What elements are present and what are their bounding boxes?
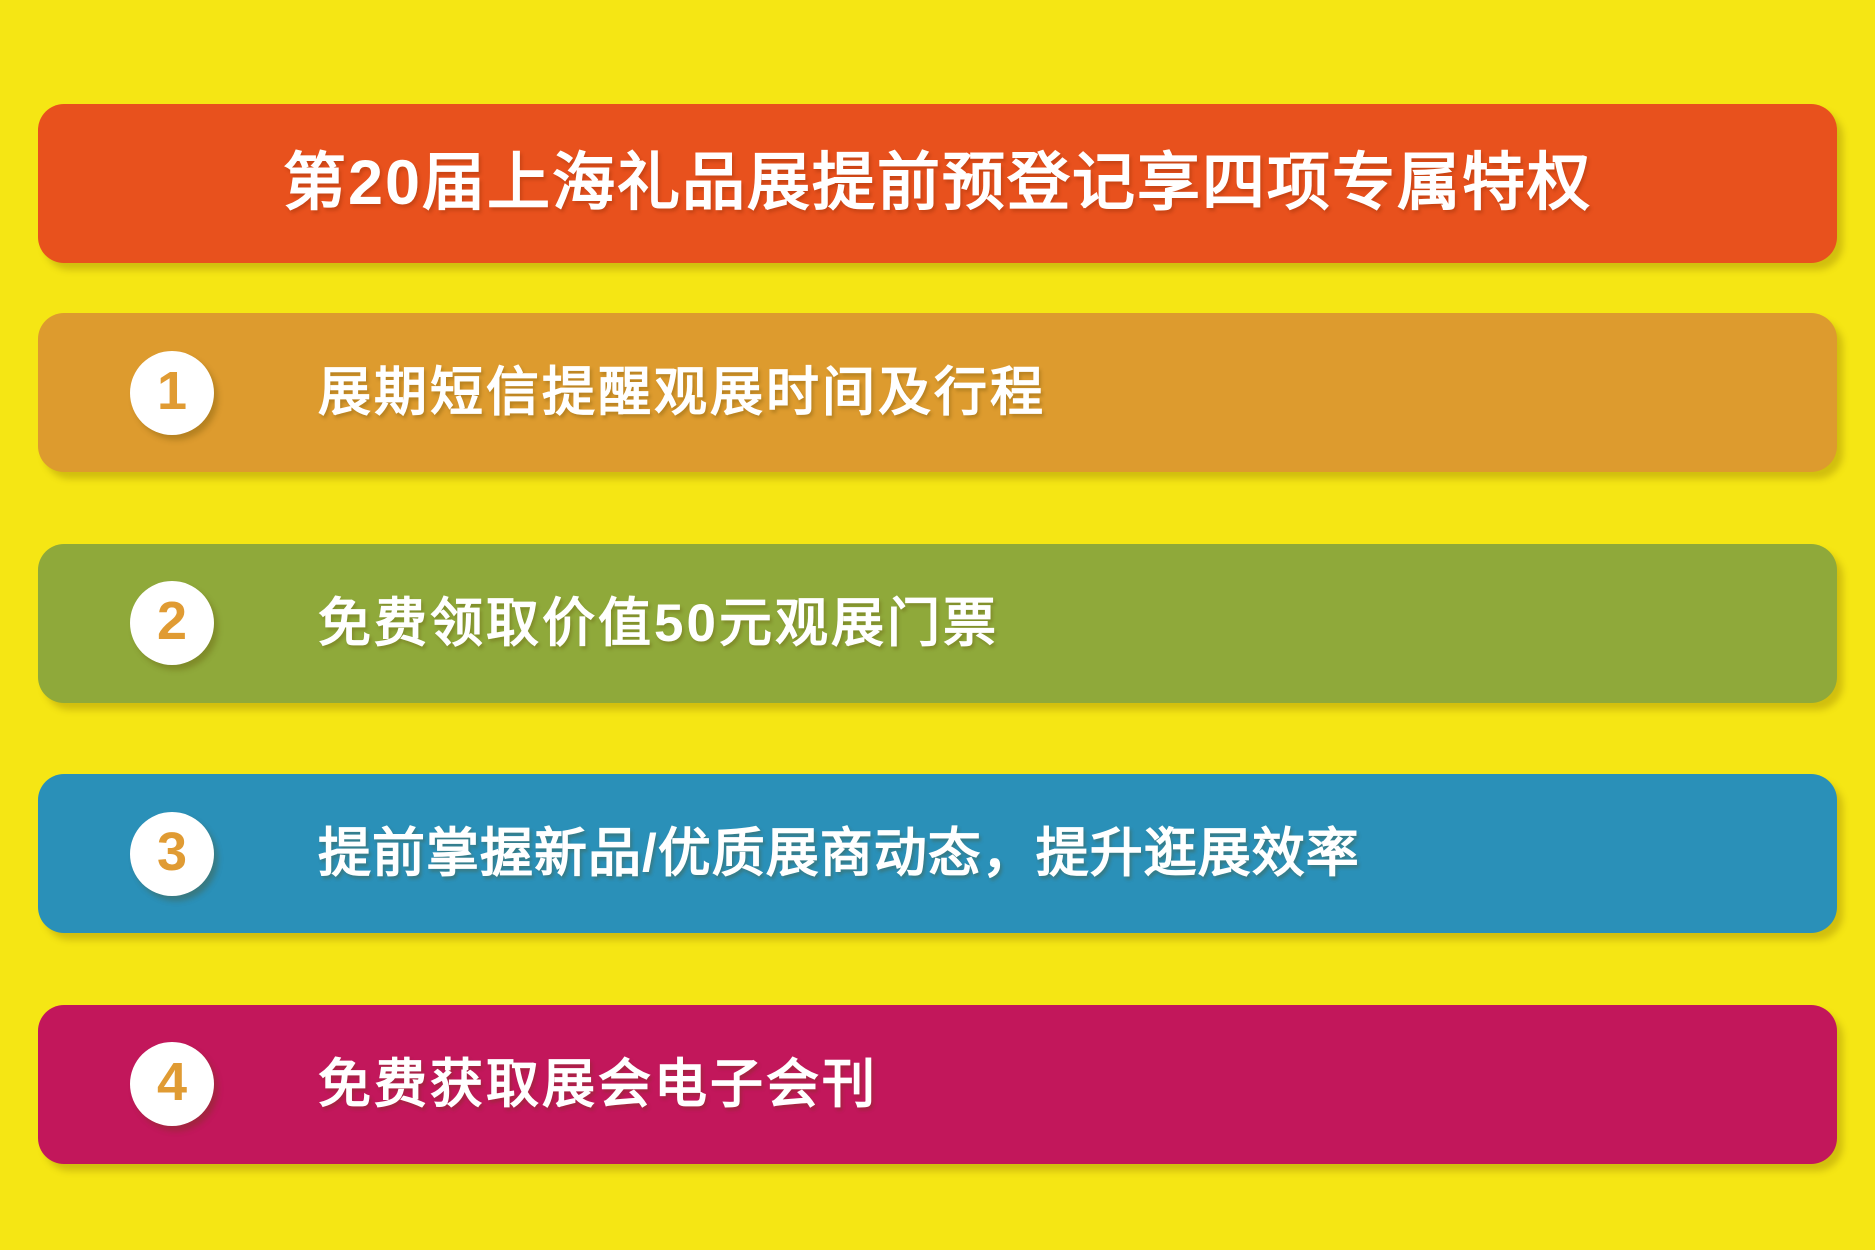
number-badge-2: 2 (130, 581, 214, 665)
page-title: 第20届上海礼品展提前预登记享四项专属特权 (283, 152, 1592, 215)
promo-poster: 第20届上海礼品展提前预登记享四项专属特权 1 展期短信提醒观展时间及行程 2 … (0, 0, 1875, 1250)
badge-number-label: 4 (157, 1055, 187, 1109)
badge-number-label: 1 (157, 364, 187, 418)
benefit-row-2: 2 免费领取价值50元观展门票 (38, 544, 1837, 703)
header-banner: 第20届上海礼品展提前预登记享四项专属特权 (38, 104, 1837, 263)
benefit-text-4: 免费获取展会电子会刊 (318, 1058, 878, 1111)
number-badge-4: 4 (130, 1042, 214, 1126)
benefit-text-2: 免费领取价值50元观展门票 (318, 597, 999, 650)
number-badge-1: 1 (130, 351, 214, 435)
benefit-row-4: 4 免费获取展会电子会刊 (38, 1005, 1837, 1164)
badge-number-label: 2 (157, 594, 187, 648)
benefit-text-1: 展期短信提醒观展时间及行程 (318, 366, 1046, 419)
benefit-row-1: 1 展期短信提醒观展时间及行程 (38, 313, 1837, 472)
badge-number-label: 3 (157, 825, 187, 879)
benefit-text-3: 提前掌握新品/优质展商动态，提升逛展效率 (318, 827, 1360, 880)
number-badge-3: 3 (130, 812, 214, 896)
benefit-row-3: 3 提前掌握新品/优质展商动态，提升逛展效率 (38, 774, 1837, 933)
benefits-list: 1 展期短信提醒观展时间及行程 2 免费领取价值50元观展门票 3 提前掌握新品… (38, 263, 1837, 1186)
